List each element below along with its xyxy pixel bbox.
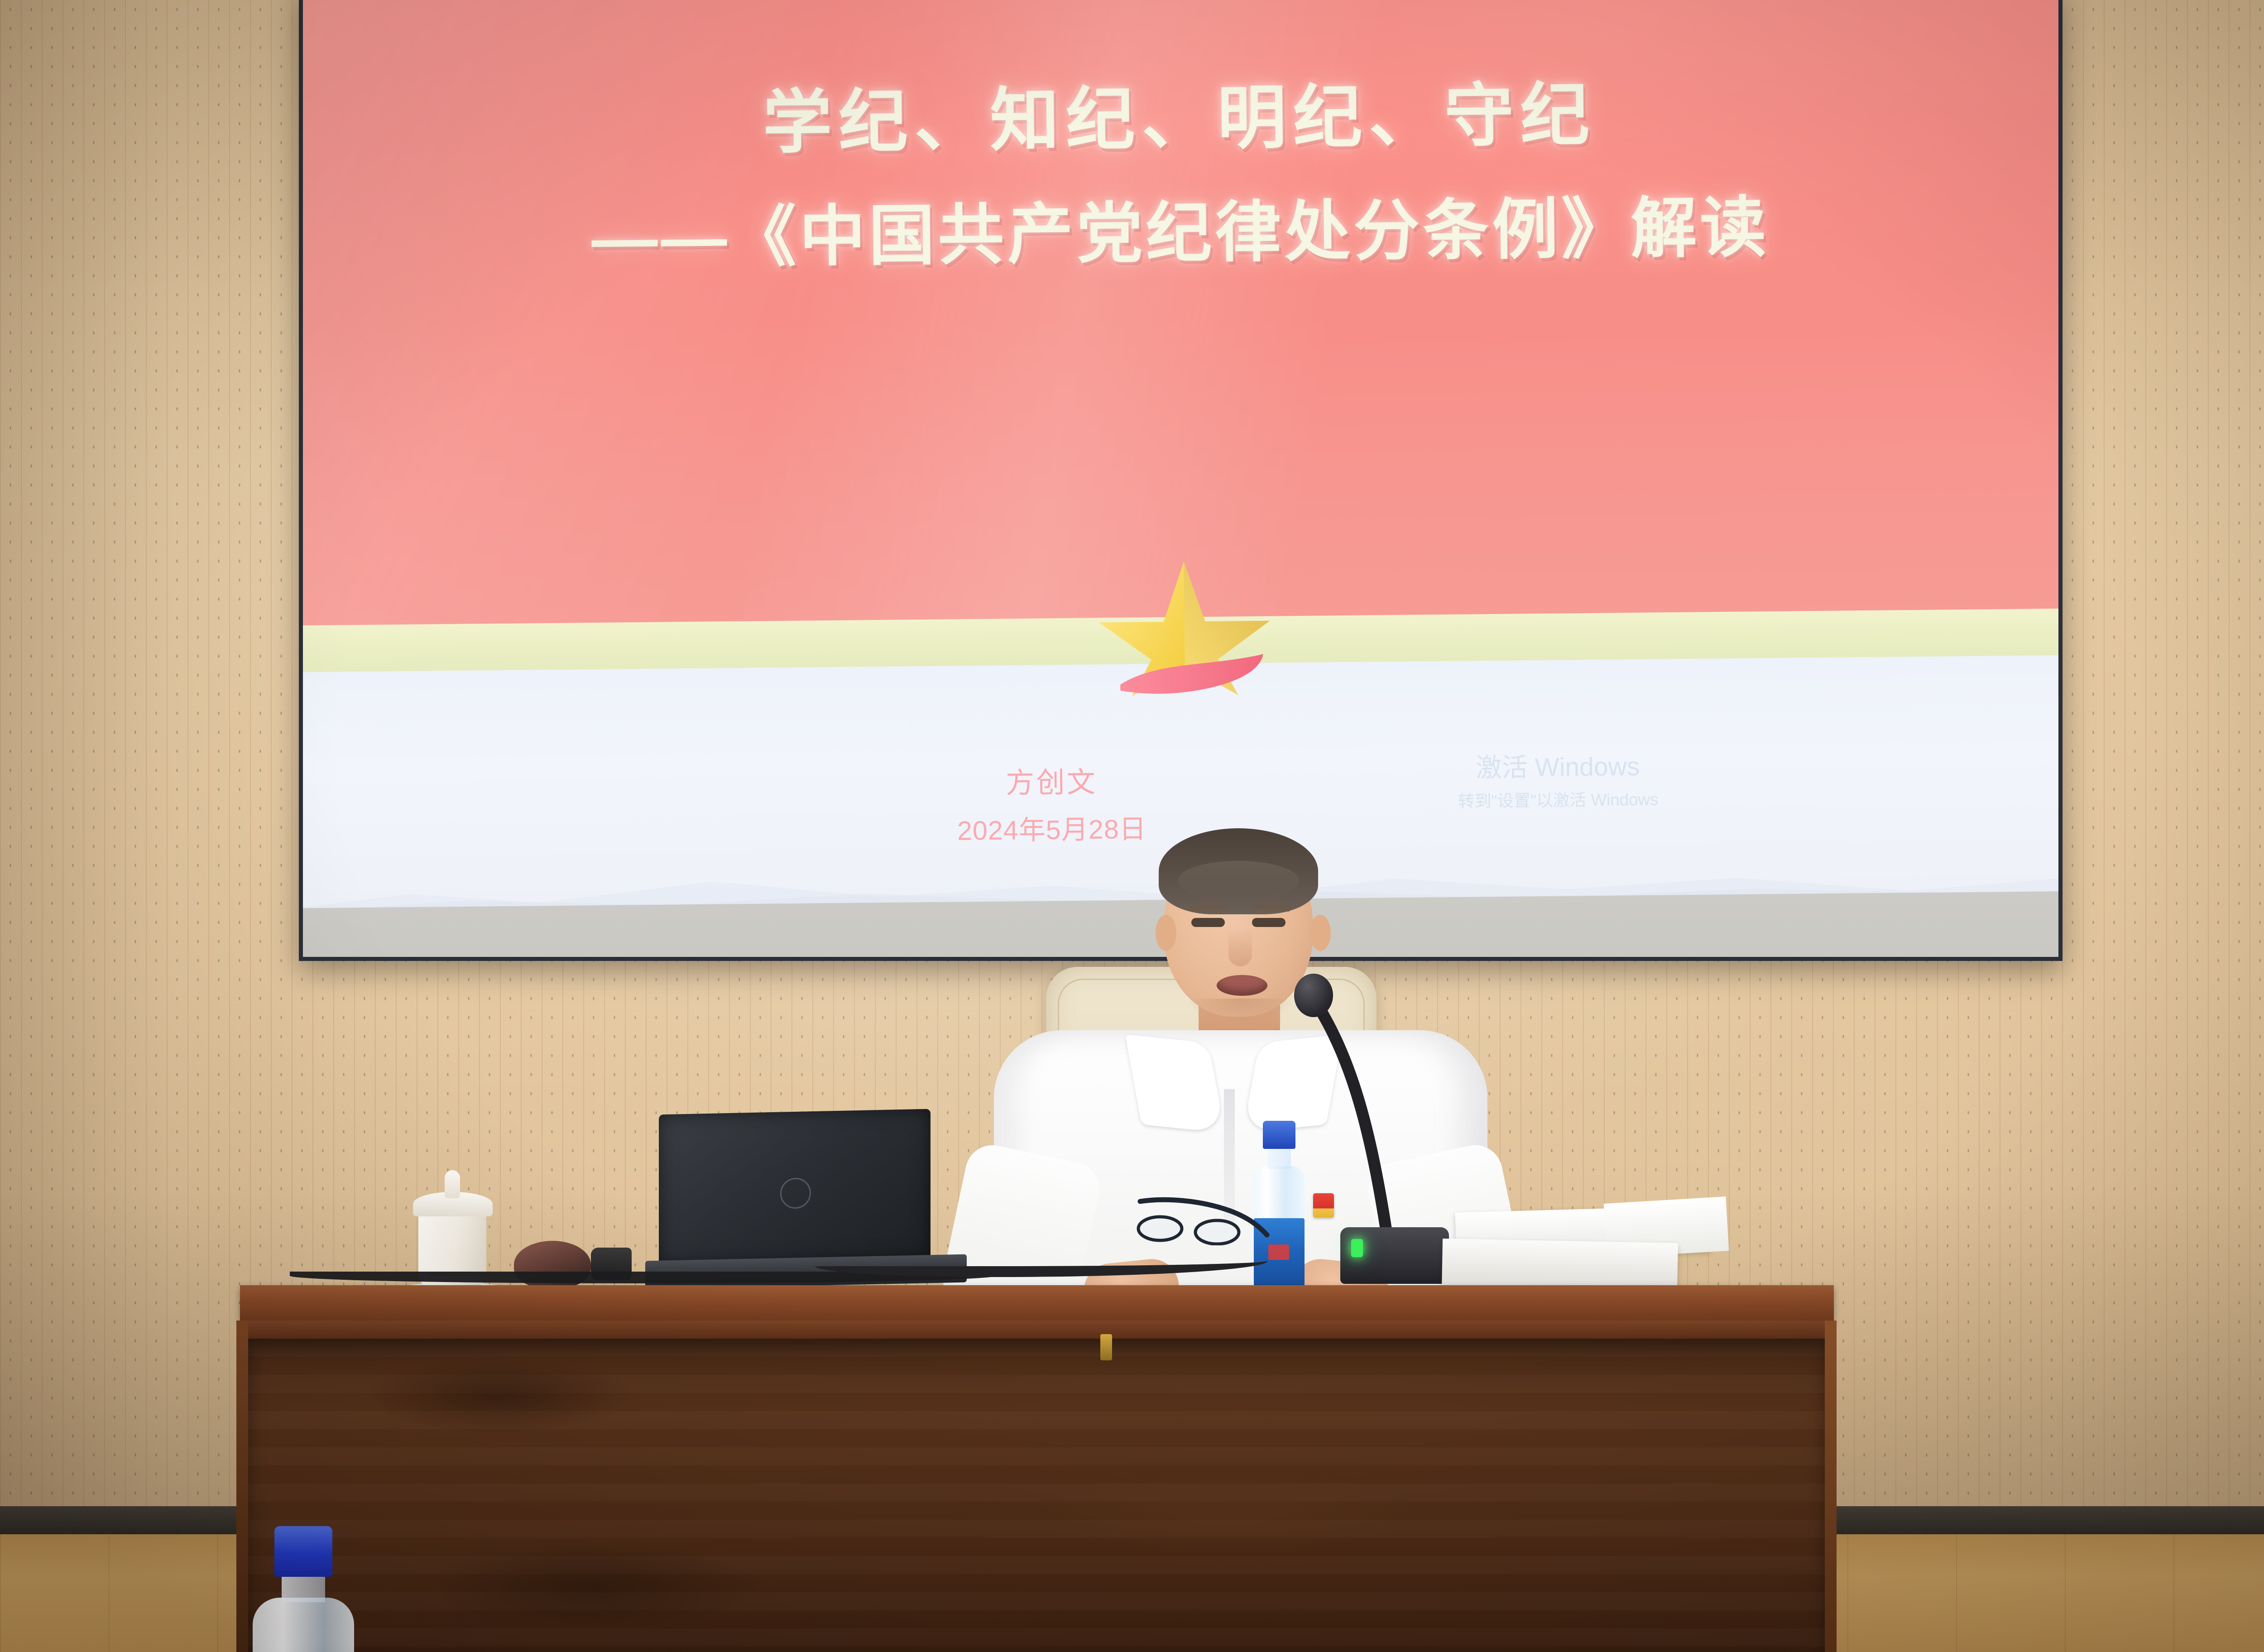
- foreground-bottle-neck: [282, 1573, 325, 1602]
- nose: [1228, 928, 1252, 966]
- slide-title-line-2: ——《中国共产党纪律处分条例》解读: [299, 171, 2063, 284]
- eye-right: [1252, 918, 1285, 927]
- chin-shadow: [1189, 999, 1293, 1023]
- laptop-lid: [659, 1109, 931, 1264]
- paper-sheet: [1442, 1239, 1678, 1293]
- slide-title-line-1: 学纪、知纪、明纪、守纪: [299, 54, 2063, 172]
- desk-edge: [240, 1321, 1834, 1339]
- foreground-bottle-cap: [274, 1526, 332, 1577]
- projected-slide: 学纪、知纪、明纪、守纪 ——《中国共产党纪律处分条例》解读: [299, 0, 2063, 908]
- water-bottle-cap: [1263, 1121, 1295, 1149]
- document-stack: [1442, 1182, 1732, 1295]
- foreground-bottle-body: [253, 1598, 354, 1652]
- desk-wood-grain: [247, 1339, 1827, 1652]
- watermark-line-1: 激活 Windows: [1458, 749, 1658, 786]
- eyeglasses-icon: [1137, 1193, 1272, 1245]
- teacup-lid-knob: [445, 1170, 460, 1198]
- desk-side-right: [1825, 1321, 1837, 1652]
- watermark-line-2: 转到"设置"以激活 Windows: [1458, 788, 1659, 813]
- desk-top-rail: [240, 1285, 1834, 1321]
- ear-left: [1156, 915, 1176, 951]
- dell-logo-icon: [780, 1177, 811, 1209]
- desk-knob: [1100, 1334, 1112, 1360]
- ear-right: [1310, 915, 1331, 951]
- hair: [1159, 828, 1318, 914]
- water-bottle-neck: [1267, 1147, 1291, 1169]
- mouth: [1217, 975, 1267, 996]
- projection-screen: 学纪、知纪、明纪、守纪 ——《中国共产党纪律处分条例》解读: [299, 0, 2063, 961]
- foreground-water-bottle: [245, 1526, 367, 1652]
- slide-title-block: 学纪、知纪、明纪、守纪 ——《中国共产党纪律处分条例》解读: [299, 54, 2063, 284]
- windows-activation-watermark: 激活 Windows 转到"设置"以激活 Windows: [1458, 749, 1659, 813]
- microphone-capsule: [1294, 974, 1333, 1017]
- gold-star-icon: [1087, 551, 1282, 706]
- lecture-photo-scene: 学纪、知纪、明纪、守纪 ——《中国共产党纪律处分条例》解读: [0, 0, 2264, 1652]
- microphone-led-indicator: [1351, 1239, 1363, 1257]
- eye-left: [1191, 918, 1225, 927]
